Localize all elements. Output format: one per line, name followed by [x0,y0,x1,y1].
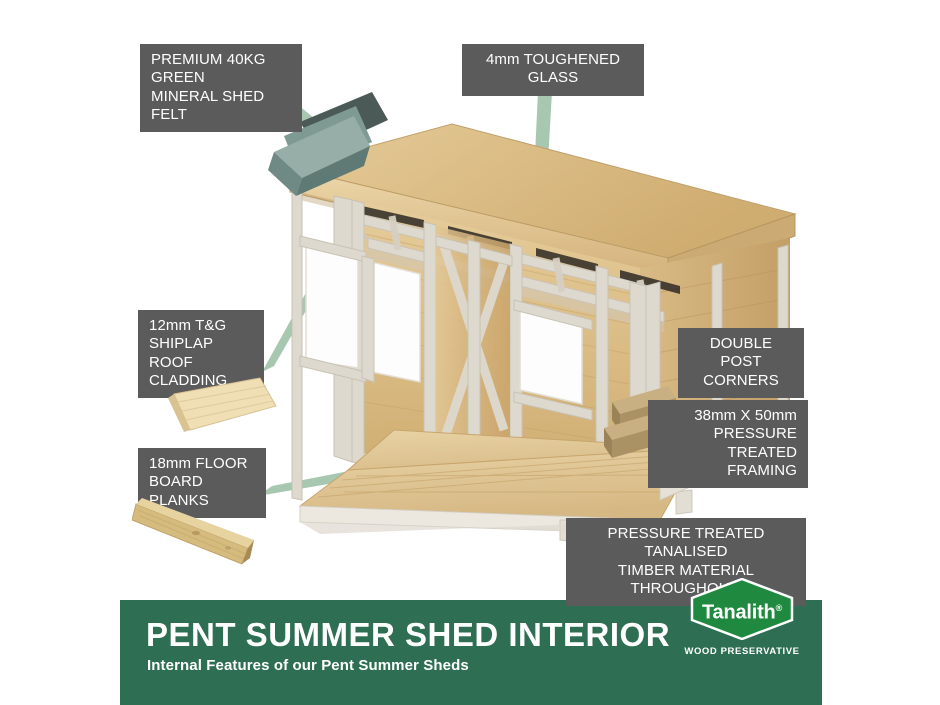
floor-plank-swatch [132,492,280,578]
tanalith-hex-icon: Tanalith® [687,578,797,638]
callout-tanalised-timber-line-1: PRESSURE TREATED TANALISED [577,525,795,562]
callout-double-post-corners: DOUBLE POST CORNERS [678,328,804,398]
callout-shiplap-cladding-line-2: SHIPLAP ROOF [149,335,253,372]
tanalith-brand-text: Tanalith [702,602,776,624]
callout-shed-felt: PREMIUM 40KG GREEN MINERAL SHED FELT [140,44,302,132]
callout-shed-felt-line-1: PREMIUM 40KG GREEN [151,51,291,88]
callout-toughened-glass-line-1: 4mm TOUGHENED GLASS [473,51,633,88]
page-title: PENT SUMMER SHED INTERIOR [146,616,670,654]
registered-mark: ® [776,603,782,613]
callout-shed-felt-line-2: MINERAL SHED FELT [151,88,291,125]
callout-pressure-treated-framing-line-2: PRESSURE [659,425,797,443]
callout-floor-boards-line-1: 18mm FLOOR [149,455,255,473]
callout-pressure-treated-framing-line-1: 38mm X 50mm [659,407,797,425]
tanalith-tagline: WOOD PRESERVATIVE [682,646,802,657]
callout-double-post-corners-line-1: DOUBLE POST [689,335,793,372]
callout-pressure-treated-framing-line-3: TREATED FRAMING [659,444,797,481]
page-subtitle: Internal Features of our Pent Summer She… [147,657,469,674]
callout-pressure-treated-framing: 38mm X 50mm PRESSURE TREATED FRAMING [648,400,808,488]
infographic-canvas: PREMIUM 40KG GREEN MINERAL SHED FELT 4mm… [0,0,940,705]
tanalith-logo: Tanalith® WOOD PRESERVATIVE [682,578,802,674]
tanalith-wordmark: Tanalith® [687,584,797,637]
callout-double-post-corners-line-2: CORNERS [689,372,793,390]
callout-toughened-glass: 4mm TOUGHENED GLASS [462,44,644,96]
callout-shiplap-cladding-line-1: 12mm T&G [149,317,253,335]
shiplap-board-swatch [168,372,280,434]
